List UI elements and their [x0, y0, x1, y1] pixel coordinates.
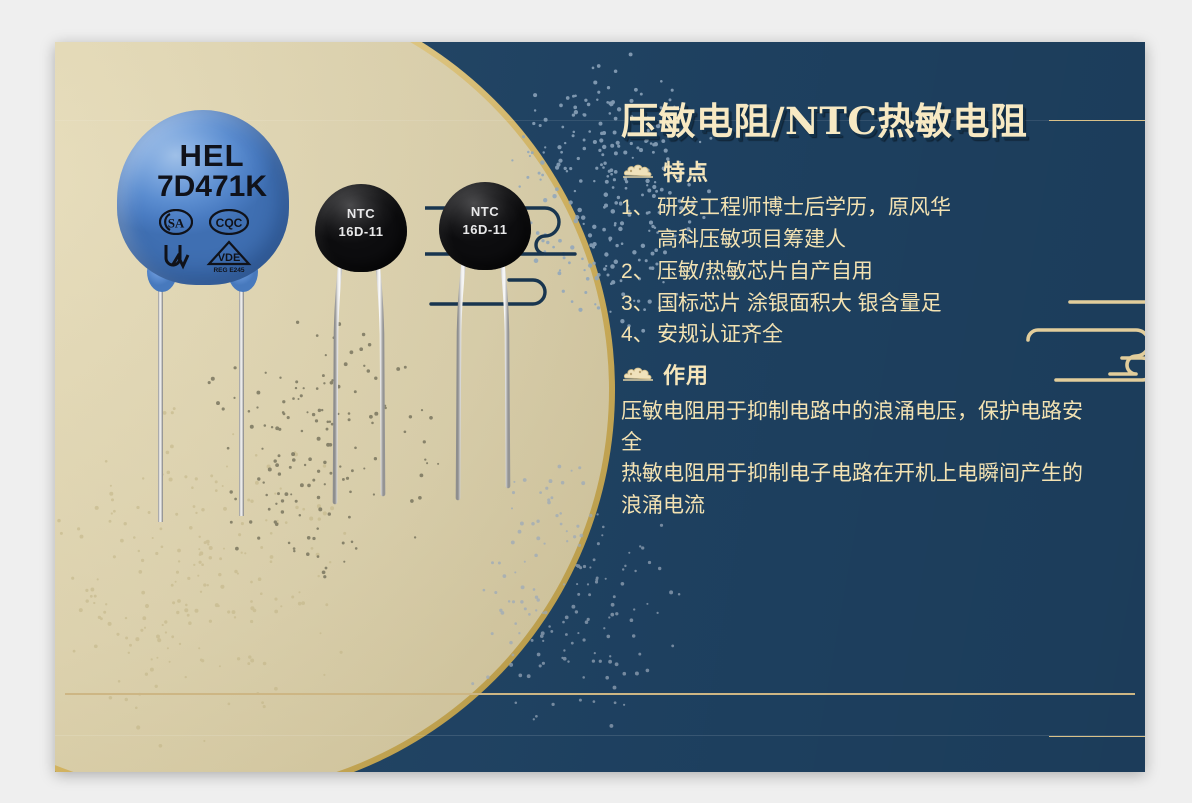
- function-paragraph-1: 压敏电阻用于抑制电路中的浪涌电压，保护电路安全: [621, 396, 1091, 458]
- varistor-lead-right: [239, 280, 244, 516]
- list-item: 4、 安规认证齐全: [621, 320, 1091, 350]
- svg-text:CQC: CQC: [216, 216, 243, 230]
- cqc-certification-mark-icon: CQC: [209, 209, 249, 235]
- list-item: 3、 国标芯片 涂银面积大 银含量足: [621, 289, 1091, 319]
- bullet-text: 压敏/热敏芯片自产自用: [657, 257, 873, 287]
- thermistor-2-leads: [437, 234, 537, 524]
- thermistor-1-leads: [313, 236, 413, 526]
- bullet-text: 研发工程师博士后学历，原风华: [657, 193, 951, 223]
- thermistor-2-line1: NTC: [439, 204, 531, 219]
- product-thermistor-1: NTC 16D-11: [303, 162, 423, 532]
- varistor-part-text: 7D471K: [117, 170, 307, 204]
- varistor-brand-text: HEL: [117, 138, 307, 174]
- bullet-text: 高科压敏项目筹建人: [657, 225, 846, 255]
- section-heading-function-label: 作用: [663, 358, 709, 390]
- thermistor-1-line2: 16D-11: [315, 224, 407, 239]
- page-title: 压敏电阻/NTC热敏电阻: [621, 102, 1091, 141]
- list-item: 1、 研发工程师博士后学历，原风华: [621, 193, 1091, 223]
- varistor-lead-left: [158, 280, 163, 522]
- bullet-text: 安规认证齐全: [657, 320, 783, 350]
- slide-canvas: HEL 7D471K SA CQC VDE REG E245: [55, 42, 1145, 772]
- bullet-num: 4、: [621, 320, 657, 350]
- product-varistor: HEL 7D471K SA CQC VDE REG E245: [117, 110, 307, 530]
- function-paragraph-2: 热敏电阻用于抑制电子电路在开机上电瞬间产生的浪涌电流: [621, 458, 1091, 520]
- thermistor-1-line1: NTC: [315, 206, 407, 221]
- chinese-cloud-ornament-icon: [621, 365, 655, 383]
- thermistor-2-line2: 16D-11: [439, 222, 531, 237]
- content-panel: 压敏电阻/NTC热敏电阻 特点 1、 研发工程师博士后学历，原风华 1、 高科压…: [621, 102, 1091, 762]
- bullet-text: 国标芯片 涂银面积大 银含量足: [657, 289, 942, 319]
- section-heading-function: 作用: [621, 358, 1091, 390]
- ul-recognized-mark-icon: [162, 242, 192, 270]
- bullet-num: 1、: [621, 193, 657, 223]
- csa-certification-mark-icon: SA: [159, 209, 193, 235]
- chinese-cloud-ornament-icon: [621, 162, 655, 180]
- svg-text:SA: SA: [168, 216, 185, 231]
- bullet-num: 3、: [621, 289, 657, 319]
- list-item: 1、 高科压敏项目筹建人: [621, 225, 1091, 255]
- section-heading-features-label: 特点: [663, 155, 709, 187]
- features-list: 1、 研发工程师博士后学历，原风华 1、 高科压敏项目筹建人 2、 压敏/热敏芯…: [621, 193, 1091, 350]
- product-thermistor-2: NTC 16D-11: [427, 160, 547, 530]
- svg-text:REG E245: REG E245: [213, 267, 244, 273]
- svg-text:VDE: VDE: [218, 252, 241, 264]
- vde-certification-mark-icon: VDE REG E245: [206, 240, 252, 273]
- section-heading-features: 特点: [621, 155, 1091, 187]
- list-item: 2、 压敏/热敏芯片自产自用: [621, 257, 1091, 287]
- bullet-num: 2、: [621, 257, 657, 287]
